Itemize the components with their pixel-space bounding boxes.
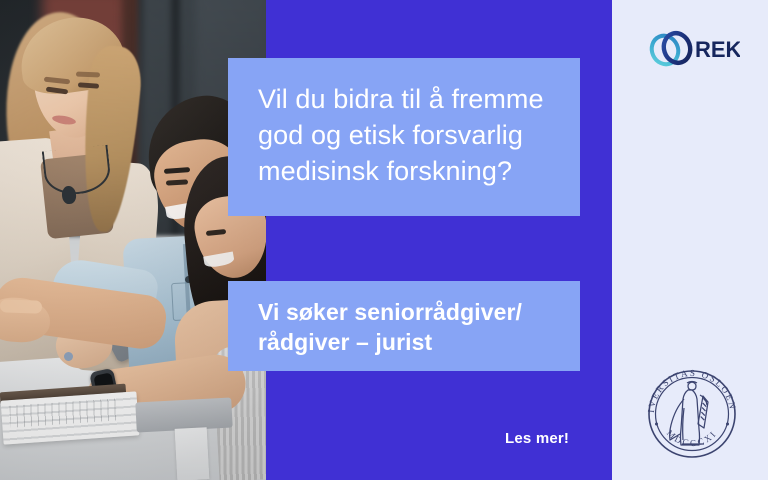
notepad (175, 427, 210, 480)
uio-seal-svg: UNIVERSITAS OSLOENSIS MDCCCXI (640, 362, 744, 466)
job-title-text: Vi søker seniorrådgiver/ rådgiver – juri… (258, 298, 550, 358)
man-pointing-finger (0, 299, 42, 313)
university-of-oslo-seal: UNIVERSITAS OSLOENSIS MDCCCXI (640, 362, 744, 466)
photo-scene (0, 0, 267, 480)
headline-box: Vil du bidra til å fremme god og etisk f… (228, 58, 580, 216)
headline-text: Vil du bidra til å fremme god og etisk f… (258, 82, 550, 190)
office-team-photo (0, 0, 267, 480)
woman-eyebrow-right (76, 72, 100, 78)
laptop-keyboard (135, 398, 232, 433)
read-more-link[interactable]: Les mer! (505, 430, 569, 447)
rek-logo-svg: REK (648, 26, 740, 72)
rek-wordmark: REK (695, 37, 740, 62)
recruitment-banner[interactable]: Vil du bidra til å fremme god og etisk f… (0, 0, 768, 480)
seal-dot-left (655, 423, 658, 426)
seal-top-text: UNIVERSITAS OSLOENSIS (640, 362, 738, 413)
woman-ring (64, 352, 73, 361)
rek-logo[interactable]: REK (648, 26, 740, 72)
seal-dot-right (726, 423, 729, 426)
job-title-box: Vi søker seniorrådgiver/ rådgiver – juri… (228, 281, 580, 371)
